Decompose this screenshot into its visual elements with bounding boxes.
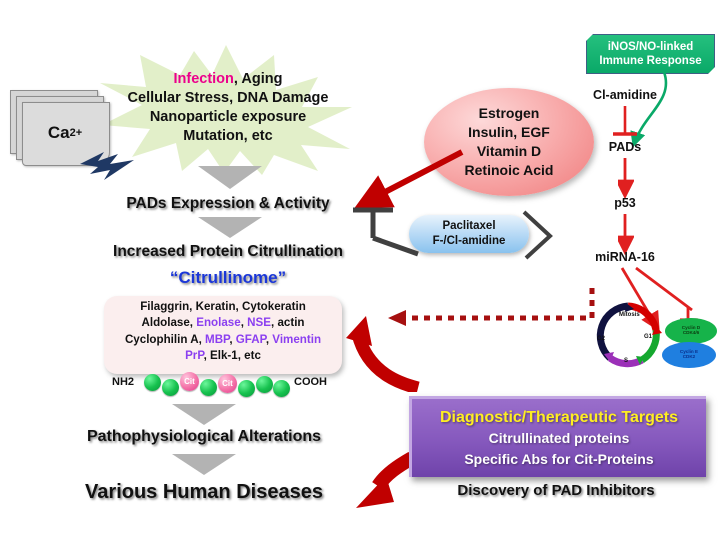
protein-text: , Elk-1, etc <box>204 349 261 362</box>
cell-cycle-phase-mitosis: Mitosis <box>619 312 640 318</box>
stress-line-2: Cellular Stress, DNA Damage <box>108 89 348 108</box>
inhibitor-item: F-/Cl-amidine <box>433 234 506 249</box>
pathway-node-mirna16: miRNA-16 <box>578 250 672 264</box>
calcium-charge: 2+ <box>70 127 83 139</box>
pathway-node-pads: PADs <box>588 140 662 154</box>
residue-bead <box>144 374 161 391</box>
stress-line-3: Nanoparticle exposure <box>108 108 348 127</box>
diagnostic-therapeutic-targets-box: Diagnostic/Therapeutic Targets Citrullin… <box>409 396 706 477</box>
calcium-symbol: Ca <box>48 123 70 143</box>
protein-text: PrP <box>185 349 203 362</box>
residue-bead <box>238 380 255 397</box>
protein-row-3: Cyclophilin A, MBP, GFAP, Vimentin <box>104 332 342 348</box>
cit-label: Cit <box>218 374 237 393</box>
stress-line-1: Infection, Aging <box>108 70 348 89</box>
stress-aging: , Aging <box>234 71 283 87</box>
stress-line-4: Mutation, etc <box>108 127 348 146</box>
cyclin-e-line2: CDK2 <box>668 354 710 359</box>
protein-text: Cyclophilin A, <box>125 333 205 346</box>
targets-item-1: Citrullinated proteins <box>489 428 630 449</box>
bracket-connector-gray <box>520 208 574 264</box>
lightning-bolt-icon <box>78 150 138 184</box>
targets-text: Diagnostic/Therapeutic Targets Citrullin… <box>412 399 706 477</box>
cell-cycle-phase-g2: G2 <box>597 336 605 342</box>
inos-immune-response-box: iNOS/NO-linked Immune Response <box>586 34 715 74</box>
pathophysiological-alterations-label: Pathophysiological Alterations <box>48 428 360 446</box>
peptide-n-terminus: NH2 <box>112 376 134 388</box>
cl-amidine-label: Cl-amidine <box>580 88 670 102</box>
stimulator-item: Insulin, EGF <box>468 123 550 142</box>
protein-row-4: PrP, Elk-1, etc <box>104 348 342 364</box>
protein-text: Aldolase, <box>141 316 196 329</box>
cit-label: Cit <box>180 372 199 391</box>
peptide-c-terminus: COOH <box>294 376 327 388</box>
protein-text: GFAP <box>236 333 266 346</box>
protein-row-2: Aldolase, Enolase, NSE, actin <box>104 315 342 331</box>
cell-cycle-phase-s: S <box>624 358 628 364</box>
targets-heading: Diagnostic/Therapeutic Targets <box>440 407 678 428</box>
protein-text: Enolase <box>196 316 240 329</box>
citrulline-bead: Cit <box>180 372 199 391</box>
chevron-down-icon-2 <box>198 217 262 239</box>
various-human-diseases-label: Various Human Diseases <box>48 481 360 504</box>
inos-line-1: iNOS/NO-linked <box>608 40 694 54</box>
chevron-down-icon-3 <box>172 404 236 426</box>
residue-bead <box>162 379 179 396</box>
inos-line-2: Immune Response <box>599 54 701 68</box>
pathway-node-p53: p53 <box>588 196 662 210</box>
stress-infection: Infection <box>173 71 233 87</box>
inhibitor-pill: Paclitaxel F-/Cl-amidine <box>409 215 529 253</box>
stress-stimuli-text: Infection, Aging Cellular Stress, DNA Da… <box>108 70 348 146</box>
citrullinome-label: “Citrullinome” <box>118 268 338 288</box>
figure-canvas: Ca2+ Infection, Aging Cellular Stress, D… <box>0 0 728 551</box>
citrullinome-protein-list: Filaggrin, Keratin, Cytokeratin Aldolase… <box>104 299 342 365</box>
residue-bead <box>200 379 217 396</box>
targets-to-citrullinome-arrow <box>344 312 434 392</box>
residue-bead <box>256 376 273 393</box>
pads-expression-label: PADs Expression & Activity <box>88 195 368 213</box>
chevron-down-icon-1 <box>198 166 262 190</box>
residue-bead <box>273 380 290 397</box>
pathway-arrow-pads-to-p53 <box>618 156 634 200</box>
inhibitor-list: Paclitaxel F-/Cl-amidine <box>409 215 529 253</box>
protein-citrullination-label: Increased Protein Citrullination <box>78 243 378 261</box>
protein-text: Vimentin <box>272 333 321 346</box>
cyclin-d-line2: CDK4/6 <box>672 330 710 335</box>
inos-box-text: iNOS/NO-linked Immune Response <box>587 35 714 73</box>
pad-inhibitors-footer: Discovery of PAD Inhibitors <box>409 482 703 499</box>
protein-row-1: Filaggrin, Keratin, Cytokeratin <box>104 299 342 315</box>
citrulline-bead: Cit <box>218 374 237 393</box>
targets-item-2: Specific Abs for Cit-Proteins <box>464 449 653 470</box>
protein-text: , actin <box>271 316 305 329</box>
cell-cycle-phase-g1: G1 <box>644 334 652 340</box>
protein-text: MBP <box>205 333 229 346</box>
protein-text: NSE <box>247 316 271 329</box>
cyclin-d-label: Cyclin D CDK4/6 <box>672 325 710 336</box>
chevron-down-icon-4 <box>172 454 236 476</box>
inhibitor-item: Paclitaxel <box>442 219 495 234</box>
stimulator-item: Estrogen <box>479 104 540 123</box>
cyclin-e-label: Cyclin E CDK2 <box>668 349 710 360</box>
protein-text: Filaggrin, Keratin, Cytokeratin <box>140 300 306 313</box>
stimulator-item: Vitamin D <box>477 142 541 161</box>
